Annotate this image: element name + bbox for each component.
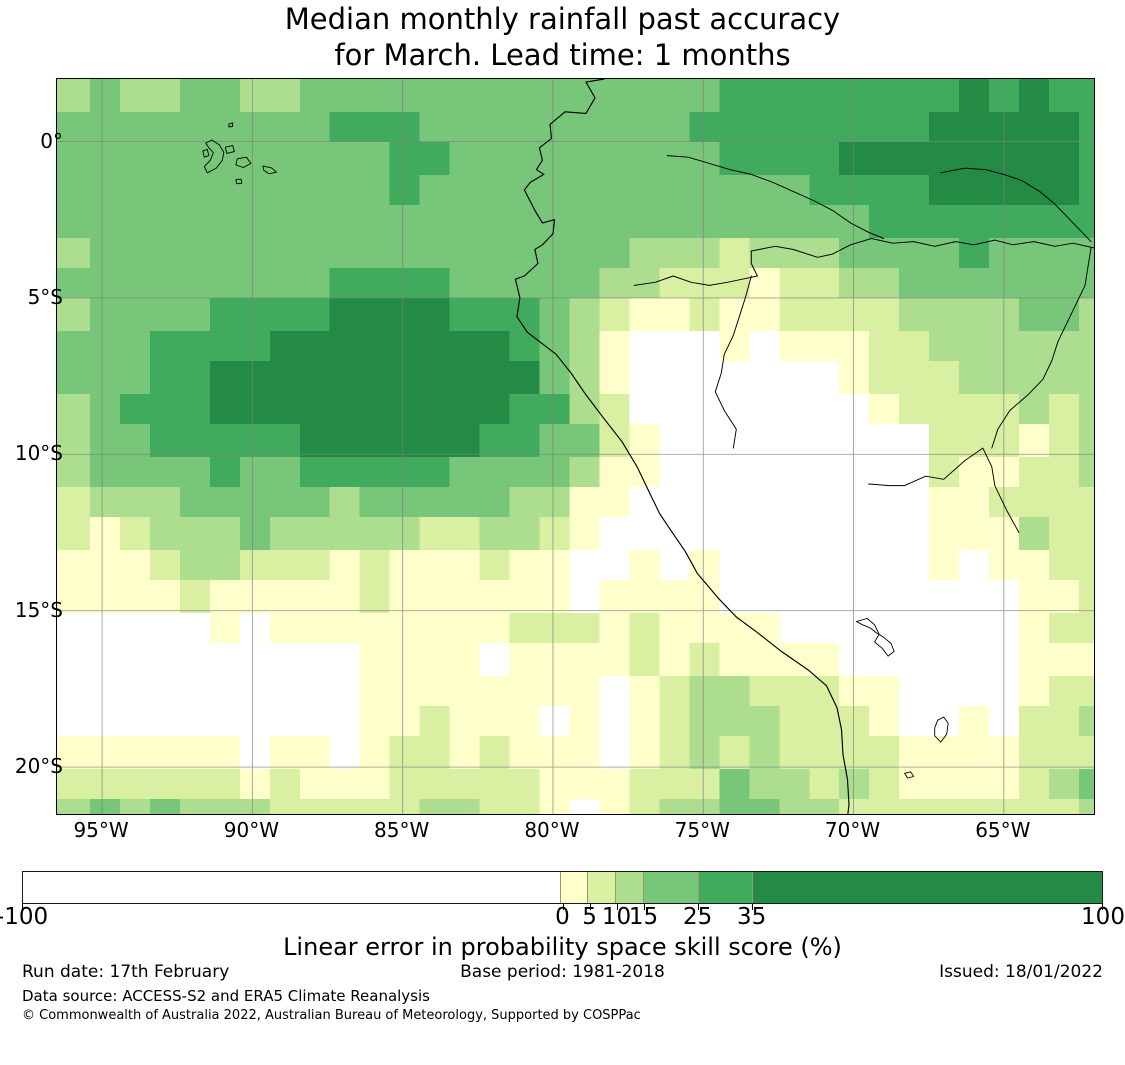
copyright-text: © Commonwealth of Australia 2022, Austra… <box>22 1007 641 1024</box>
gal-santacruz <box>236 157 251 167</box>
colorbar-segment <box>560 872 588 903</box>
lake-poopo <box>935 717 949 742</box>
y-tick-label: 20°S <box>15 756 63 776</box>
pacific-coast <box>515 82 849 814</box>
colorbar-tick-label: 10 <box>602 904 631 930</box>
gal-fernandina <box>203 149 209 157</box>
colorbar-segment <box>23 872 560 903</box>
x-tick-label: 80°W <box>524 820 579 840</box>
y-tick-label: 5°S <box>28 287 63 307</box>
x-tick-label: 75°W <box>675 820 730 840</box>
map-plot-area[interactable] <box>56 78 1095 815</box>
colorbar-segment <box>643 872 698 903</box>
ucayali <box>715 276 751 448</box>
colorbar-segment <box>752 872 1102 903</box>
salar <box>905 772 914 778</box>
gal-santiago <box>225 146 234 154</box>
colorbar-title: Linear error in probability space skill … <box>0 932 1125 962</box>
page-title: Median monthly rainfall past accuracy fo… <box>0 0 1125 73</box>
colorbar-tick-label: 5 <box>582 904 597 930</box>
run-date-text: Run date: 17th February <box>22 962 229 983</box>
title-line-2: for March. Lead time: 1 months <box>0 37 1125 73</box>
colorbar-segment <box>698 872 753 903</box>
x-tick-label: 85°W <box>374 820 429 840</box>
colorbar-segment <box>587 872 615 903</box>
gal-pinta <box>229 123 233 127</box>
rio-negro <box>941 168 1091 242</box>
map-gridlines <box>57 79 1094 814</box>
y-tick-label: 15°S <box>15 600 63 620</box>
colorbar-tick-label: 15 <box>629 904 658 930</box>
colorbar[interactable] <box>22 871 1103 904</box>
putumayo <box>667 156 883 239</box>
issued-date-text: Issued: 18/01/2022 <box>939 962 1103 983</box>
colombia-coast-north <box>586 79 604 82</box>
y-tick-label: 0° <box>40 131 63 151</box>
x-tick-label: 65°W <box>975 820 1030 840</box>
base-period-text: Base period: 1981-2018 <box>460 962 665 983</box>
maranon <box>634 251 757 285</box>
gal-sancristobal <box>263 166 277 174</box>
colorbar-segment <box>615 872 643 903</box>
title-line-1: Median monthly rainfall past accuracy <box>0 1 1125 37</box>
map-vector-overlay <box>57 79 1094 814</box>
map-coastlines <box>203 79 1094 814</box>
madeira <box>992 248 1091 448</box>
x-tick-label: 90°W <box>224 820 279 840</box>
x-tick-label: 95°W <box>73 820 128 840</box>
gal-floreana <box>236 179 242 184</box>
colorbar-tick-label: 0 <box>555 904 570 930</box>
footer-meta-row: Run date: 17th February Base period: 198… <box>22 962 1103 984</box>
lake-titicaca-outer <box>857 619 895 657</box>
footer: Run date: 17th February Base period: 198… <box>0 962 1125 1062</box>
amazon-river <box>751 239 1094 258</box>
y-tick-label: 10°S <box>15 443 63 463</box>
colorbar-tick-label: -100 <box>0 904 48 930</box>
colorbar-tick-label: 25 <box>683 904 712 930</box>
colorbar-tick-label: 35 <box>737 904 766 930</box>
data-source-text: Data source: ACCESS-S2 and ERA5 Climate … <box>22 987 430 1006</box>
border-bolivia <box>869 448 1019 532</box>
colorbar-tick-label: 100 <box>1081 904 1125 930</box>
x-tick-label: 70°W <box>825 820 880 840</box>
colorbar-gradient <box>22 871 1103 904</box>
